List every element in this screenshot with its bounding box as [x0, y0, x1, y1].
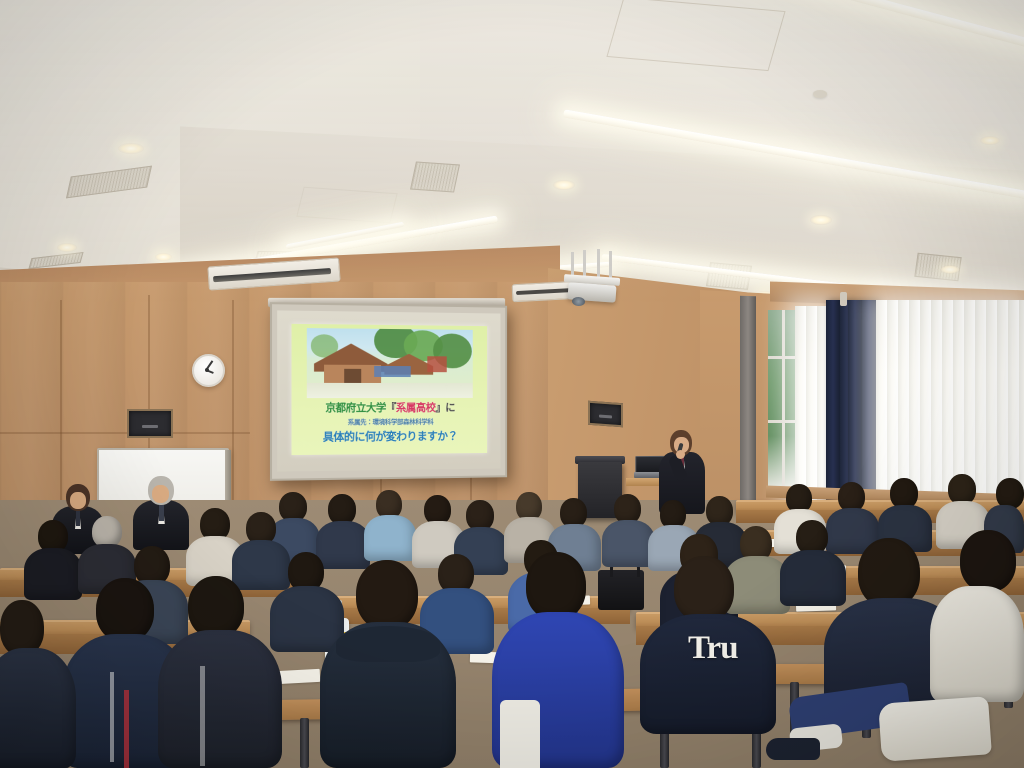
official-tie — [76, 510, 80, 526]
slide-quote-open: 『 — [386, 402, 396, 414]
body — [0, 648, 76, 768]
head — [188, 576, 244, 638]
slide-title-prefix: 京都府立大学 — [325, 402, 386, 414]
body — [270, 586, 344, 652]
slide-subtitle: 系属先：環境科学部森林科学科 — [291, 417, 487, 427]
jersey-text: Tru — [688, 630, 768, 666]
wall-clock-icon — [192, 354, 225, 387]
jersey-stripe — [110, 672, 114, 762]
curtain-rod-bracket — [840, 292, 847, 306]
slide-building-accent — [427, 357, 446, 372]
shoe — [766, 738, 820, 760]
presentation-slide: 京都府立大学『系属高校』に 系属先：環境科学部森林科学科 具体的に何が変わります… — [291, 323, 487, 455]
sheer-curtain[interactable] — [876, 300, 1024, 505]
ceiling-downlight — [118, 143, 144, 154]
official-face — [70, 492, 86, 509]
handout-paper — [276, 669, 321, 684]
ceiling-downlight — [940, 265, 960, 274]
head — [356, 560, 418, 630]
ceiling-downlight — [553, 180, 575, 190]
body — [780, 550, 846, 606]
jersey-stripe — [200, 666, 205, 766]
ceiling-downlight — [980, 136, 1000, 145]
jersey-stripe — [124, 690, 129, 768]
smoke-detector — [813, 90, 827, 98]
ceiling-downlight — [57, 243, 77, 252]
hood — [336, 626, 440, 662]
head — [526, 552, 586, 620]
body — [232, 540, 290, 590]
slide-vehicle — [374, 366, 410, 377]
slide-photo — [307, 328, 472, 399]
body — [158, 630, 282, 768]
slide-title-line-1: 京都府立大学『系属高校』に — [291, 400, 487, 416]
head — [960, 530, 1016, 592]
wall-speaker-icon — [588, 401, 623, 427]
slide-quote-close: 』 — [436, 402, 446, 414]
head — [96, 578, 154, 642]
slide-question: 具体的に何が変わりますか？ — [291, 428, 487, 446]
projection-screen: 京都府立大学『系属高校』に 系属先：環境科学部森林科学科 具体的に何が変わります… — [270, 302, 507, 481]
ceiling-access-hatch — [296, 187, 397, 224]
window-mullion — [782, 310, 785, 490]
wall-speaker-icon — [127, 409, 173, 438]
body — [364, 515, 416, 561]
lecture-hall-photo: 京都府立大学『系属高校』に 系属先：環境科学部森林科学科 具体的に何が変わります… — [0, 0, 1024, 768]
body — [316, 521, 370, 569]
head — [674, 556, 734, 622]
screen-surface: 京都府立大学『系属高校』に 系属先：環境科学部森林科学科 具体的に何が変わります… — [277, 310, 500, 471]
projector-mount-rod — [597, 249, 600, 279]
ceiling-vent — [410, 161, 460, 192]
presenter-hand — [676, 450, 685, 459]
body — [930, 586, 1024, 702]
bag-white — [500, 700, 540, 768]
slide-title-suffix: に — [445, 402, 455, 414]
bag-white — [878, 696, 992, 762]
slide-building-door — [344, 369, 361, 383]
ceiling-downlight — [810, 215, 832, 225]
slide-title-highlight: 系属高校 — [396, 402, 436, 414]
body — [24, 548, 82, 600]
clock-center — [205, 368, 209, 372]
ceiling-downlight — [155, 253, 172, 261]
official-face — [152, 485, 169, 503]
official-tie — [159, 504, 164, 521]
slide-ground — [307, 383, 472, 399]
blackout-curtain[interactable] — [848, 300, 878, 512]
wall-panel-seam — [0, 432, 250, 434]
bench-leg — [300, 718, 309, 768]
